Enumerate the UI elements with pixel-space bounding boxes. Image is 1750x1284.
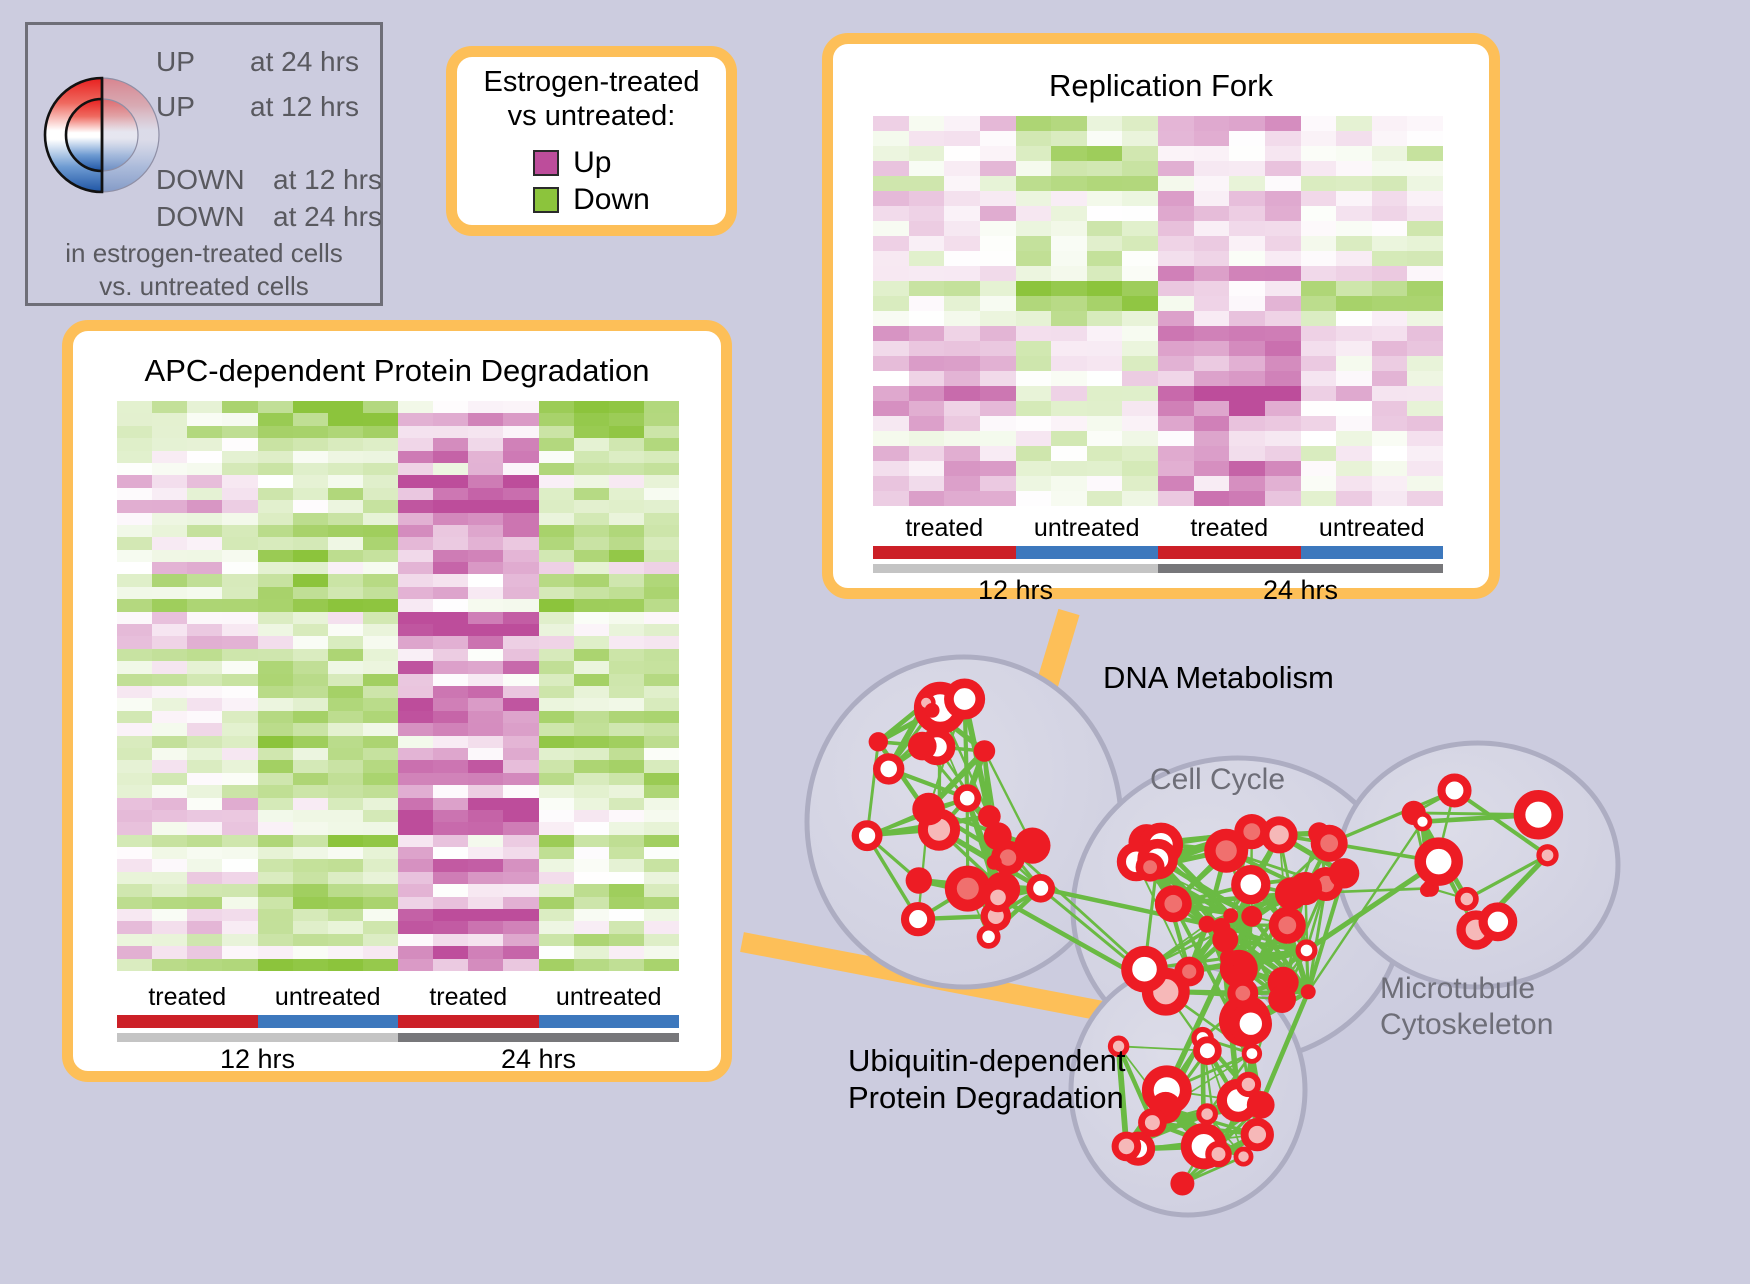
heatmap-cell — [873, 401, 909, 416]
heatmap-cell — [1158, 461, 1194, 476]
heatmap-cell — [152, 835, 187, 847]
heatmap-cell — [468, 413, 503, 425]
network-node — [1127, 951, 1163, 987]
network-node — [1197, 1040, 1219, 1062]
network-node — [1236, 1149, 1251, 1164]
key-title-line1: Estrogen-treated — [483, 66, 699, 100]
heatmap-cell — [644, 674, 679, 686]
heatmap-cell — [117, 451, 152, 463]
heatmap-cell — [363, 921, 398, 933]
heatmap-cell — [873, 431, 909, 446]
heatmap-cell — [574, 612, 609, 624]
heatmap-cell — [1407, 341, 1443, 356]
heatmap-cell — [1372, 416, 1408, 431]
heatmap-cell — [117, 413, 152, 425]
network-node — [906, 867, 932, 893]
heatmap-cell — [980, 356, 1016, 371]
heatmap-cell — [574, 822, 609, 834]
heatmap-cell — [1265, 281, 1301, 296]
heatmap-cell — [1229, 491, 1265, 506]
heatmap-cell — [468, 599, 503, 611]
bar-untreated-12 — [1016, 546, 1159, 559]
heatmap-cell — [398, 810, 433, 822]
heatmap-cell — [468, 674, 503, 686]
heatmap-cell — [644, 822, 679, 834]
heatmap-cell — [328, 624, 363, 636]
heatmap-cell — [1122, 191, 1158, 206]
heatmap-cell — [433, 624, 468, 636]
heatmap-cell — [328, 723, 363, 735]
heatmap-cell — [1265, 311, 1301, 326]
heatmap-cell — [539, 847, 574, 859]
heatmap-cell — [468, 401, 503, 413]
heatmap-cell — [363, 537, 398, 549]
heatmap-cell — [909, 296, 945, 311]
heatmap-cell — [1016, 371, 1052, 386]
heatmap-cell — [503, 599, 538, 611]
heatmap-cell — [574, 934, 609, 946]
heatmap-cell — [873, 116, 909, 131]
heatmap-cell — [909, 281, 945, 296]
heatmap-cell — [574, 674, 609, 686]
heatmap-cell — [574, 921, 609, 933]
heatmap-cell — [609, 401, 644, 413]
heatmap-cell — [909, 416, 945, 431]
heatmap-cell — [1265, 386, 1301, 401]
network-node — [1415, 814, 1430, 829]
heatmap-cell — [1016, 281, 1052, 296]
heatmap-cell — [1372, 176, 1408, 191]
heatmap-cell — [644, 451, 679, 463]
heatmap-cell — [1336, 146, 1372, 161]
heatmap-cell — [503, 810, 538, 822]
heatmap-cell — [503, 624, 538, 636]
heatmap-cell — [1051, 476, 1087, 491]
heatmap-cell — [187, 748, 222, 760]
panel-apc-degradation: APC-dependent Protein Degradation treate… — [62, 320, 732, 1082]
heatmap-cell — [398, 624, 433, 636]
heatmap-cell — [1229, 371, 1265, 386]
heatmap-cell — [944, 281, 980, 296]
heatmap-cell — [909, 401, 945, 416]
heatmap-cell — [433, 736, 468, 748]
heatmap-cell — [398, 847, 433, 859]
network-node — [855, 824, 879, 848]
network-node — [1208, 1144, 1228, 1164]
heatmap-cell — [1194, 281, 1230, 296]
heatmap-cell — [503, 587, 538, 599]
heatmap-cell — [1051, 341, 1087, 356]
network-node — [1239, 1075, 1258, 1094]
heatmap-cell — [980, 281, 1016, 296]
heatmap-cell — [398, 859, 433, 871]
heatmap-cell — [644, 537, 679, 549]
heatmap-cell — [909, 266, 945, 281]
heatmap-cell — [1265, 296, 1301, 311]
heatmap-cell — [1372, 341, 1408, 356]
heatmap-cell — [644, 599, 679, 611]
heatmap-cell — [222, 847, 257, 859]
network-diagram: DNA Metabolism Cell Cycle Microtubule Cy… — [788, 600, 1750, 1279]
heatmap-cell — [1122, 461, 1158, 476]
heatmap-cell — [1122, 431, 1158, 446]
heatmap-cell — [503, 438, 538, 450]
panel-title-replication-fork: Replication Fork — [833, 68, 1489, 104]
heatmap-cell — [363, 773, 398, 785]
heatmap-cell — [328, 413, 363, 425]
heatmap-cell — [503, 909, 538, 921]
heatmap-cell — [222, 686, 257, 698]
heatmap-cell — [909, 161, 945, 176]
heatmap-cell — [1229, 176, 1265, 191]
heatmap-cell — [468, 624, 503, 636]
heatmap-cell — [944, 131, 980, 146]
heatmap-cell — [1229, 356, 1265, 371]
heatmap-cell — [539, 748, 574, 760]
heatmap-cell — [363, 835, 398, 847]
heatmap-cell — [293, 525, 328, 537]
bar-timepoint-12 — [117, 1033, 398, 1042]
heatmap-cell — [433, 599, 468, 611]
heatmap-cell — [328, 537, 363, 549]
heatmap-cell — [398, 909, 433, 921]
heatmap-cell — [187, 723, 222, 735]
heatmap-cell — [503, 748, 538, 760]
heatmap-cell — [1301, 176, 1337, 191]
heatmap-cell — [574, 723, 609, 735]
heatmap-cell — [433, 946, 468, 958]
heatmap-cell — [503, 798, 538, 810]
swatch-up-icon — [533, 150, 559, 176]
heatmap-cell — [539, 463, 574, 475]
heatmap-cell — [293, 934, 328, 946]
heatmap-cell — [222, 698, 257, 710]
heatmap-cell — [152, 872, 187, 884]
heatmap-cell — [258, 525, 293, 537]
heatmap-cell — [644, 859, 679, 871]
heatmap-cell — [468, 525, 503, 537]
heatmap-cell — [644, 959, 679, 971]
heatmap-cell — [293, 426, 328, 438]
heatmap-cell — [609, 909, 644, 921]
heatmap-cell — [398, 649, 433, 661]
heatmap-cell — [1087, 431, 1123, 446]
axis-group-labels: treated untreated treated untreated — [873, 514, 1443, 546]
heatmap-cell — [222, 921, 257, 933]
heatmap-cell — [187, 884, 222, 896]
heatmap-cell — [1407, 386, 1443, 401]
heatmap-cell — [152, 736, 187, 748]
heatmap-cell — [980, 386, 1016, 401]
heatmap-cell — [909, 116, 945, 131]
heatmap-cell — [1407, 176, 1443, 191]
heatmap-cell — [117, 649, 152, 661]
heatmap-cell — [1158, 146, 1194, 161]
heatmap-cell — [644, 587, 679, 599]
heatmap-cell — [1229, 461, 1265, 476]
heatmap-cell — [873, 266, 909, 281]
heatmap-cell — [328, 500, 363, 512]
heatmap-cell — [1087, 161, 1123, 176]
heatmap-cell — [1158, 251, 1194, 266]
heatmap-cell — [909, 326, 945, 341]
heatmap-cell — [944, 251, 980, 266]
heatmap-cell — [909, 191, 945, 206]
heatmap-cell — [152, 612, 187, 624]
heatmap-cell — [1407, 161, 1443, 176]
heatmap-cell — [609, 723, 644, 735]
heatmap-cell — [539, 822, 574, 834]
heatmap-cell — [258, 401, 293, 413]
heatmap-cell — [574, 760, 609, 772]
heatmap-cell — [328, 636, 363, 648]
heatmap-cell — [873, 296, 909, 311]
network-node — [912, 793, 945, 826]
heatmap-cell — [1122, 176, 1158, 191]
key-label-down: Down — [573, 183, 650, 217]
heatmap-cell — [363, 513, 398, 525]
heatmap-cell — [1265, 206, 1301, 221]
heatmap-cell — [1087, 146, 1123, 161]
heatmap-cell — [1194, 146, 1230, 161]
heatmap-cell — [468, 475, 503, 487]
heatmap-cell — [1016, 431, 1052, 446]
heatmap-cell — [609, 438, 644, 450]
axis-group-bar — [873, 546, 1443, 559]
heatmap-cell — [609, 550, 644, 562]
heatmap-cell — [1336, 356, 1372, 371]
heatmap-cell — [980, 176, 1016, 191]
heatmap-cell — [398, 959, 433, 971]
heatmap-cell — [222, 773, 257, 785]
heatmap-cell — [1122, 326, 1158, 341]
heatmap-cell — [222, 550, 257, 562]
heatmap-cell — [609, 921, 644, 933]
heatmap-cell — [1372, 296, 1408, 311]
heatmap-cell — [1158, 221, 1194, 236]
heatmap-cell — [1301, 221, 1337, 236]
heatmap-cell — [1194, 176, 1230, 191]
heatmap-cell — [1122, 251, 1158, 266]
heatmap-cell — [1229, 446, 1265, 461]
heatmap-cell — [433, 698, 468, 710]
heatmap-cell — [1301, 251, 1337, 266]
group-label-treated-24: treated — [398, 983, 539, 1015]
network-node — [1520, 796, 1558, 834]
heatmap-cell — [1158, 191, 1194, 206]
heatmap-cell — [1194, 116, 1230, 131]
wheel-footer-line1: in estrogen-treated cells — [28, 237, 380, 270]
heatmap-cell — [1265, 326, 1301, 341]
heatmap-cell — [468, 587, 503, 599]
heatmap-cell — [644, 438, 679, 450]
heatmap-cell — [1016, 461, 1052, 476]
cluster-microtubule — [1338, 743, 1618, 987]
heatmap-cell — [609, 587, 644, 599]
bar-treated-12 — [873, 546, 1016, 559]
heatmap-cell — [258, 897, 293, 909]
heatmap-cell — [152, 822, 187, 834]
heatmap-cell — [1016, 131, 1052, 146]
network-node — [905, 906, 931, 932]
heatmap-cell — [468, 810, 503, 822]
heatmap-cell — [152, 550, 187, 562]
heatmap-cell — [293, 599, 328, 611]
heatmap-cell — [944, 371, 980, 386]
heatmap-cell — [328, 550, 363, 562]
heatmap-cell — [363, 686, 398, 698]
heatmap-cell — [609, 574, 644, 586]
heatmap-cell — [1301, 116, 1337, 131]
heatmap-cell — [1051, 371, 1087, 386]
heatmap-cell — [1372, 371, 1408, 386]
heatmap-cell — [398, 760, 433, 772]
heatmap-cell — [363, 612, 398, 624]
heatmap-cell — [1229, 161, 1265, 176]
heatmap-cell — [398, 736, 433, 748]
heatmap-cell — [1087, 386, 1123, 401]
heatmap-cell — [1407, 401, 1443, 416]
heatmap-cell — [503, 661, 538, 673]
heatmap-cell — [980, 311, 1016, 326]
heatmap-cell — [503, 562, 538, 574]
heatmap-cell — [1158, 476, 1194, 491]
heatmap-cell — [1087, 236, 1123, 251]
heatmap-cell — [187, 661, 222, 673]
heatmap-cell — [117, 810, 152, 822]
heatmap-cell — [258, 550, 293, 562]
heatmap-cell — [909, 251, 945, 266]
heatmap-cell — [1336, 206, 1372, 221]
heatmap-cell — [1051, 461, 1087, 476]
heatmap-cell — [1122, 281, 1158, 296]
heatmap-cell — [152, 599, 187, 611]
heatmap-cell — [363, 413, 398, 425]
heatmap-cell — [944, 116, 980, 131]
heatmap-cell — [1158, 161, 1194, 176]
heatmap-cell — [187, 934, 222, 946]
heatmap-cell — [609, 686, 644, 698]
heatmap-cell — [117, 438, 152, 450]
heatmap-cell — [222, 748, 257, 760]
heatmap-cell — [503, 513, 538, 525]
heatmap-cell — [1051, 146, 1087, 161]
heatmap-cell — [363, 599, 398, 611]
heatmap-cell — [293, 760, 328, 772]
heatmap-cell — [1301, 326, 1337, 341]
heatmap-cell — [117, 475, 152, 487]
network-node-core — [1164, 895, 1182, 913]
heatmap-cell — [222, 463, 257, 475]
group-label-treated-24: treated — [1158, 514, 1301, 546]
heatmap-cell — [1087, 116, 1123, 131]
heatmap-cell — [1122, 311, 1158, 326]
heatmap-cell — [222, 525, 257, 537]
network-node — [869, 732, 888, 751]
heatmap-cell — [1336, 341, 1372, 356]
heatmap-cell — [609, 413, 644, 425]
network-node — [1442, 778, 1468, 804]
heatmap-cell — [1087, 461, 1123, 476]
heatmap-cell — [468, 686, 503, 698]
heatmap-cell — [1194, 266, 1230, 281]
heatmap-cell — [574, 946, 609, 958]
heatmap-cell — [1158, 296, 1194, 311]
heatmap-cell — [574, 636, 609, 648]
heatmap-cell — [398, 934, 433, 946]
heatmap-cell — [293, 401, 328, 413]
heatmap-cell — [644, 574, 679, 586]
network-node-core — [1182, 964, 1196, 978]
heatmap-cell — [1087, 296, 1123, 311]
heatmap-cell — [328, 847, 363, 859]
heatmap-cell — [1051, 401, 1087, 416]
heatmap-cell — [328, 921, 363, 933]
heatmap-cell — [152, 537, 187, 549]
network-node — [1115, 1135, 1138, 1158]
network-node-core — [1216, 840, 1237, 861]
bar-timepoint-24 — [398, 1033, 679, 1042]
heatmap-cell — [433, 612, 468, 624]
heatmap-cell — [1301, 401, 1337, 416]
heatmap-cell — [873, 461, 909, 476]
heatmap-cell — [1407, 431, 1443, 446]
heatmap-cell — [1372, 251, 1408, 266]
heatmap-cell — [187, 822, 222, 834]
heatmap-cell — [1087, 281, 1123, 296]
heatmap-cell — [222, 599, 257, 611]
heatmap-cell — [644, 525, 679, 537]
heatmap-cell — [433, 488, 468, 500]
heatmap-cell — [222, 401, 257, 413]
heatmap-cell — [1229, 311, 1265, 326]
heatmap-cell — [1158, 236, 1194, 251]
heatmap-cell — [1407, 356, 1443, 371]
heatmap-cell — [117, 835, 152, 847]
heatmap-cell — [363, 550, 398, 562]
heatmap-cell — [539, 674, 574, 686]
heatmap-cell — [293, 835, 328, 847]
heatmap-cell — [873, 191, 909, 206]
heatmap-cell — [609, 500, 644, 512]
heatmap-cell — [539, 612, 574, 624]
heatmap-cell — [117, 562, 152, 574]
network-node — [1245, 1122, 1270, 1147]
heatmap-cell — [398, 748, 433, 760]
heatmap-cell — [363, 847, 398, 859]
heatmap-cell — [539, 525, 574, 537]
heatmap-cell — [222, 859, 257, 871]
heatmap-cell — [539, 587, 574, 599]
axis-timepoint-bar — [873, 564, 1443, 573]
heatmap-cell — [258, 624, 293, 636]
heatmap-cell — [944, 341, 980, 356]
heatmap-cell — [539, 451, 574, 463]
heatmap-cell — [1194, 476, 1230, 491]
heatmap-cell — [609, 612, 644, 624]
heatmap-cell — [117, 574, 152, 586]
wheel-suffix-up-24: at 24 hrs — [250, 46, 359, 78]
heatmap-cell — [187, 909, 222, 921]
heatmap-cell — [328, 401, 363, 413]
heatmap-cell — [258, 748, 293, 760]
heatmap-cell — [944, 461, 980, 476]
expression-colorwheel-icon — [42, 35, 162, 235]
heatmap-cell — [1194, 431, 1230, 446]
network-node — [1268, 985, 1296, 1013]
heatmap-cell — [574, 500, 609, 512]
heatmap-cell — [873, 146, 909, 161]
